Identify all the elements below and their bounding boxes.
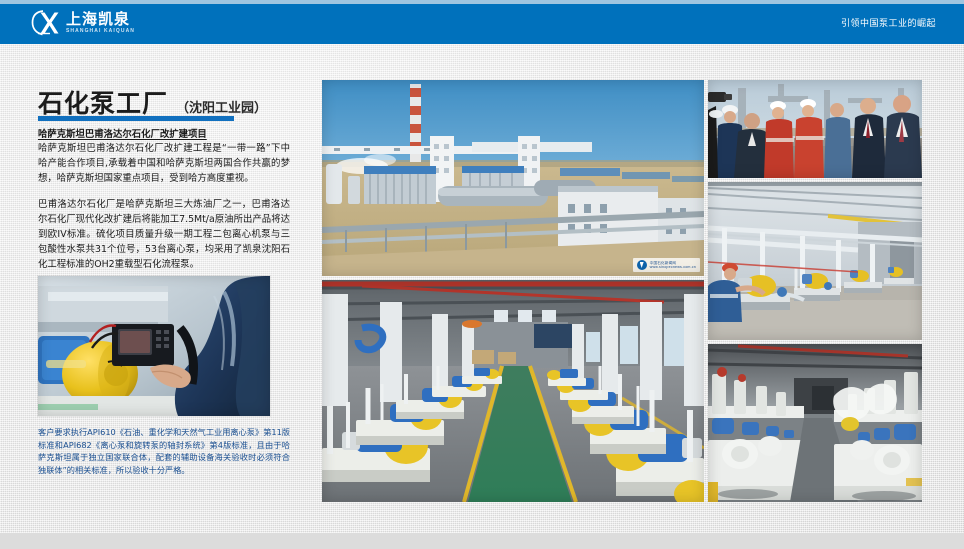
page-title-main: 石化泵工厂 bbox=[38, 84, 168, 120]
title-underline-rule bbox=[38, 116, 234, 121]
lead-heading: 哈萨克斯坦巴甫洛达尔石化厂改扩建项目 bbox=[38, 127, 290, 142]
body-paragraph-2: 巴甫洛达尔石化厂是哈萨克斯坦三大炼油厂之一，巴甫洛达尔石化厂现代化改扩建后将能加… bbox=[38, 197, 290, 272]
painted-pumps-warehouse-photo bbox=[708, 344, 922, 502]
paper-bottom-band bbox=[0, 533, 964, 549]
watermark-text: 中国石化新闻网www.sinopecnews.com.cn bbox=[650, 261, 696, 270]
brand-logo: 上海凯泉 SHANGHAI KAIQUAN bbox=[30, 8, 135, 38]
page-title-sub: （沈阳工业园） bbox=[176, 97, 267, 116]
delegation-site-visit-photo bbox=[708, 80, 922, 178]
technician-testing-pump-motor-photo bbox=[38, 276, 270, 416]
source-watermark: 中国石化新闻网www.sinopecnews.com.cn bbox=[633, 258, 700, 272]
kaiquan-k-mark-icon bbox=[30, 9, 60, 37]
page-title: 石化泵工厂 （沈阳工业园） bbox=[38, 84, 267, 120]
logo-english-name: SHANGHAI KAIQUAN bbox=[66, 29, 135, 34]
petrochemical-plant-aerial-photo: 中国石化新闻网www.sinopecnews.com.cn bbox=[322, 80, 704, 276]
slide-canvas: 上海凯泉 SHANGHAI KAIQUAN 引领中国泵工业的崛起 石化泵工厂 （… bbox=[0, 0, 964, 549]
logo-chinese-name: 上海凯泉 bbox=[66, 12, 135, 27]
pump-assembly-workshop-photo bbox=[322, 280, 704, 502]
pump-piping-installation-photo bbox=[708, 182, 922, 340]
header-slogan: 引领中国泵工业的崛起 bbox=[841, 16, 936, 29]
header-bar bbox=[0, 4, 964, 44]
body-paragraph-1: 哈萨克斯坦巴甫洛达尔石化厂改扩建工程是“一带一路”下中哈产能合作项目,承载着中国… bbox=[38, 141, 290, 186]
watermark-mark-icon bbox=[637, 260, 647, 270]
photo-caption-standards: 客户要求执行API610《石油、重化学和天然气工业用离心泵》第11版标准和API… bbox=[38, 426, 290, 476]
